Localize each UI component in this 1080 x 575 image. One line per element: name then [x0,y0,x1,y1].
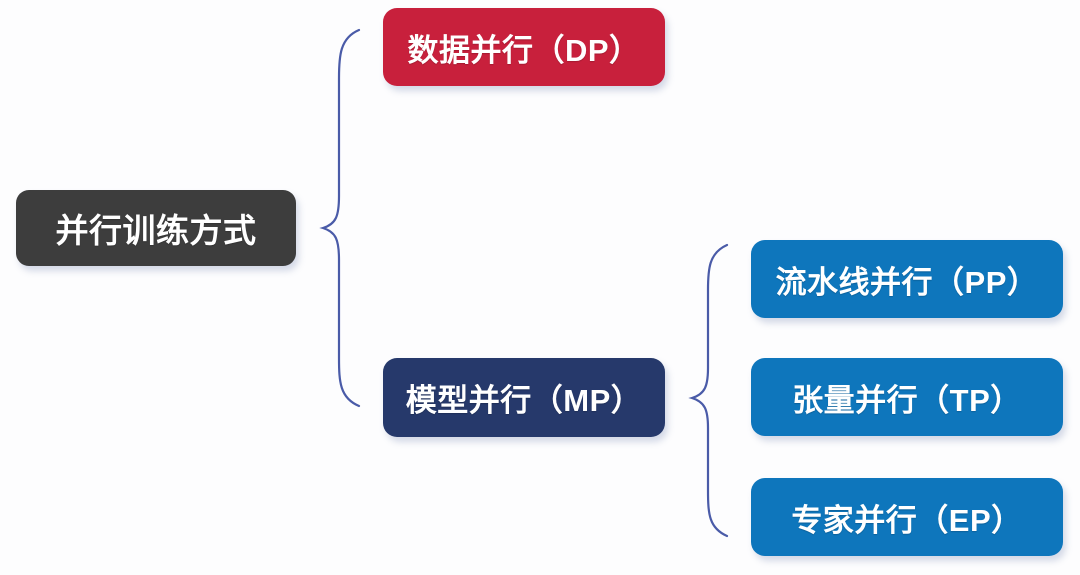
curly-brace-root [323,30,359,406]
node-expert-parallel[interactable]: 专家并行（EP） [751,478,1063,556]
diagram-canvas: 并行训练方式 数据并行（DP） 模型并行（MP） 流水线并行（PP） 张量并行（… [0,0,1080,575]
node-tensor-parallel[interactable]: 张量并行（TP） [751,358,1063,436]
node-model-parallel[interactable]: 模型并行（MP） [383,358,665,437]
node-model-parallel-label: 模型并行（MP） [406,375,643,420]
node-pipeline-parallel[interactable]: 流水线并行（PP） [751,240,1063,318]
node-pipeline-parallel-label: 流水线并行（PP） [776,257,1039,302]
node-expert-parallel-label: 专家并行（EP） [791,495,1022,540]
node-tensor-parallel-label: 张量并行（TP） [792,375,1022,420]
node-data-parallel[interactable]: 数据并行（DP） [383,8,665,86]
node-root-label: 并行训练方式 [56,204,257,252]
node-root[interactable]: 并行训练方式 [16,190,296,266]
node-data-parallel-label: 数据并行（DP） [407,25,640,70]
curly-brace-mp [692,245,727,536]
